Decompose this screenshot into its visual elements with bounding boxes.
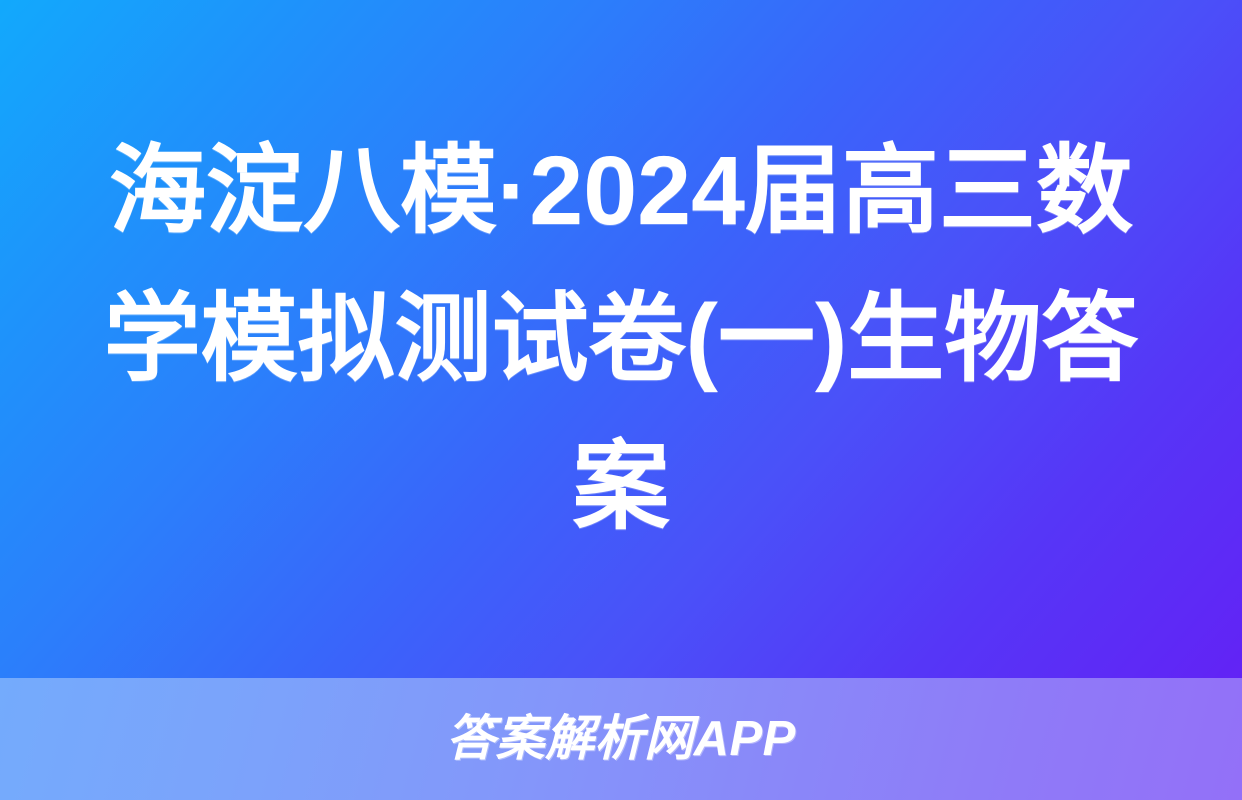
hero-gradient-panel: 海淀八模·2024届高三数学模拟测试卷(一)生物答案 (0, 0, 1242, 678)
app-promo-banner-label: 答案解析网APP (446, 715, 796, 764)
page-title: 海淀八模·2024届高三数学模拟测试卷(一)生物答案 (88, 117, 1154, 561)
app-promo-banner[interactable]: 答案解析网APP (0, 678, 1242, 800)
title-card: 海淀八模·2024届高三数学模拟测试卷(一)生物答案 答案解析网APP (0, 0, 1242, 800)
hero-text-container: 海淀八模·2024届高三数学模拟测试卷(一)生物答案 (88, 117, 1154, 561)
